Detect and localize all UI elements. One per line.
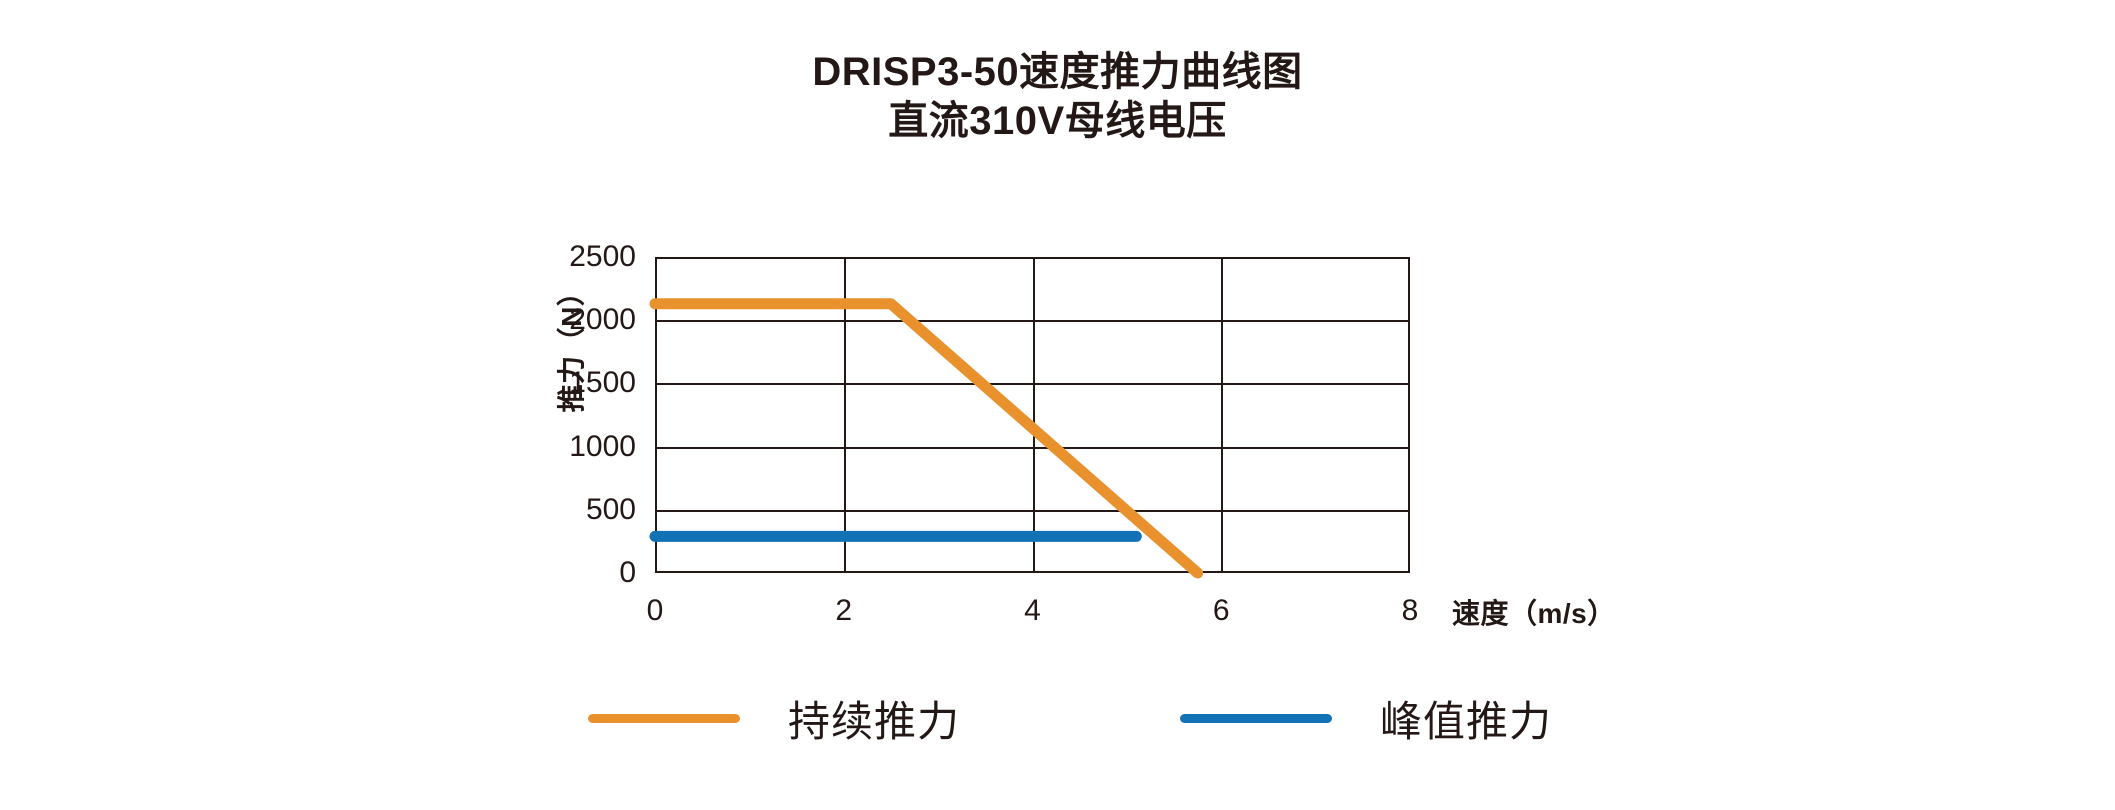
- x-tick-label: 8: [1370, 596, 1450, 626]
- y-axis-title: 推力（N）: [550, 245, 590, 445]
- series-layer: [655, 257, 1410, 573]
- x-tick-label: 6: [1181, 596, 1261, 626]
- chart-title: DRISP3-50速度推力曲线图 直流310V母线电压: [0, 48, 2115, 146]
- legend-color-swatch: [1180, 714, 1332, 723]
- x-axis-title: 速度（m/s）: [1452, 592, 1616, 632]
- x-tick-label: 4: [993, 596, 1073, 626]
- chart-legend: 持续推力峰值推力: [570, 690, 1630, 760]
- chart-title-line-1: DRISP3-50速度推力曲线图: [0, 48, 2115, 97]
- plot-area: [655, 257, 1410, 573]
- y-tick-label: 500: [516, 495, 636, 525]
- legend-label: 持续推力: [788, 688, 960, 749]
- legend-color-swatch: [588, 714, 740, 723]
- thrust-speed-chart: DRISP3-50速度推力曲线图 直流310V母线电压 050010001500…: [0, 0, 2115, 810]
- x-tick-label: 2: [804, 596, 884, 626]
- legend-item[interactable]: 峰值推力: [1180, 690, 1552, 746]
- legend-item[interactable]: 持续推力: [588, 690, 960, 746]
- chart-title-line-2: 直流310V母线电压: [0, 97, 2115, 146]
- y-tick-label: 0: [516, 558, 636, 588]
- legend-label: 峰值推力: [1380, 688, 1552, 749]
- x-axis-tick-labels: 02468: [655, 596, 1410, 636]
- x-tick-label: 0: [615, 596, 695, 626]
